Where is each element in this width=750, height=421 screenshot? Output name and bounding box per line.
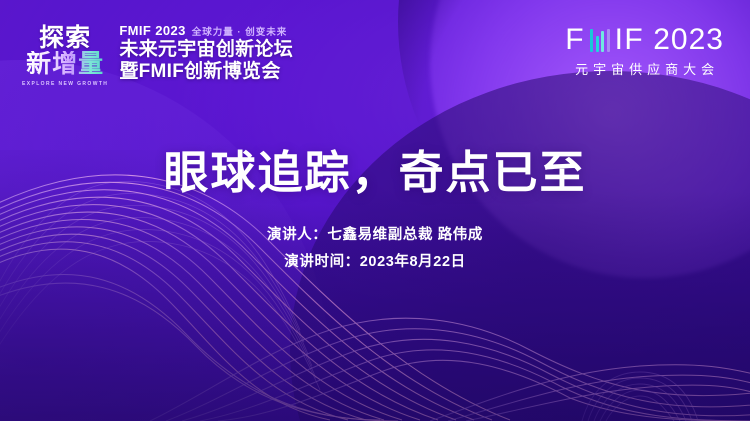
slide-speaker: 演讲人：七鑫易维副总裁 路伟成 bbox=[267, 224, 483, 246]
event-logo-wordmark: F IF 2023 bbox=[565, 24, 724, 55]
slide-title: 眼球追踪，奇点已至 bbox=[163, 146, 586, 200]
event-logo-letters-if: IF bbox=[615, 24, 645, 55]
header-kicker-cn: 全球力量 · 创变未来 bbox=[192, 24, 287, 38]
brand-logo-line2: 新增量 bbox=[26, 51, 104, 78]
event-logo: F IF 2023 元宇宙供应商大会 bbox=[565, 24, 724, 78]
header-left-group: 探索 新增量 EXPLORE NEW GROWTH FMIF 2023 全球力量… bbox=[22, 22, 293, 88]
event-logo-bars-icon bbox=[588, 28, 612, 52]
header-kicker-en: FMIF 2023 bbox=[119, 23, 185, 38]
header-kicker: FMIF 2023 全球力量 · 创变未来 bbox=[119, 23, 293, 38]
event-logo-year: 2023 bbox=[653, 24, 724, 55]
event-logo-subtitle: 元宇宙供应商大会 bbox=[570, 59, 719, 78]
presentation-slide: 探索 新增量 EXPLORE NEW GROWTH FMIF 2023 全球力量… bbox=[0, 0, 750, 421]
slide-center-block: 眼球追踪，奇点已至 演讲人：七鑫易维副总裁 路伟成 演讲时间：2023年8月22… bbox=[0, 146, 750, 273]
header-headline-line1: 未来元宇宙创新论坛 bbox=[119, 39, 293, 61]
header-headline-line2: 暨FMIF创新博览会 bbox=[119, 61, 293, 83]
slide-datetime: 演讲时间：2023年8月22日 bbox=[284, 251, 465, 273]
event-logo-letter-f: F bbox=[565, 24, 585, 55]
brand-logo-tagline: EXPLORE NEW GROWTH bbox=[22, 80, 108, 88]
brand-logo: 探索 新增量 EXPLORE NEW GROWTH bbox=[22, 22, 108, 88]
brand-logo-line1: 探索 bbox=[39, 25, 91, 51]
header-text-group: FMIF 2023 全球力量 · 创变未来 未来元宇宙创新论坛 暨FMIF创新博… bbox=[119, 22, 293, 83]
